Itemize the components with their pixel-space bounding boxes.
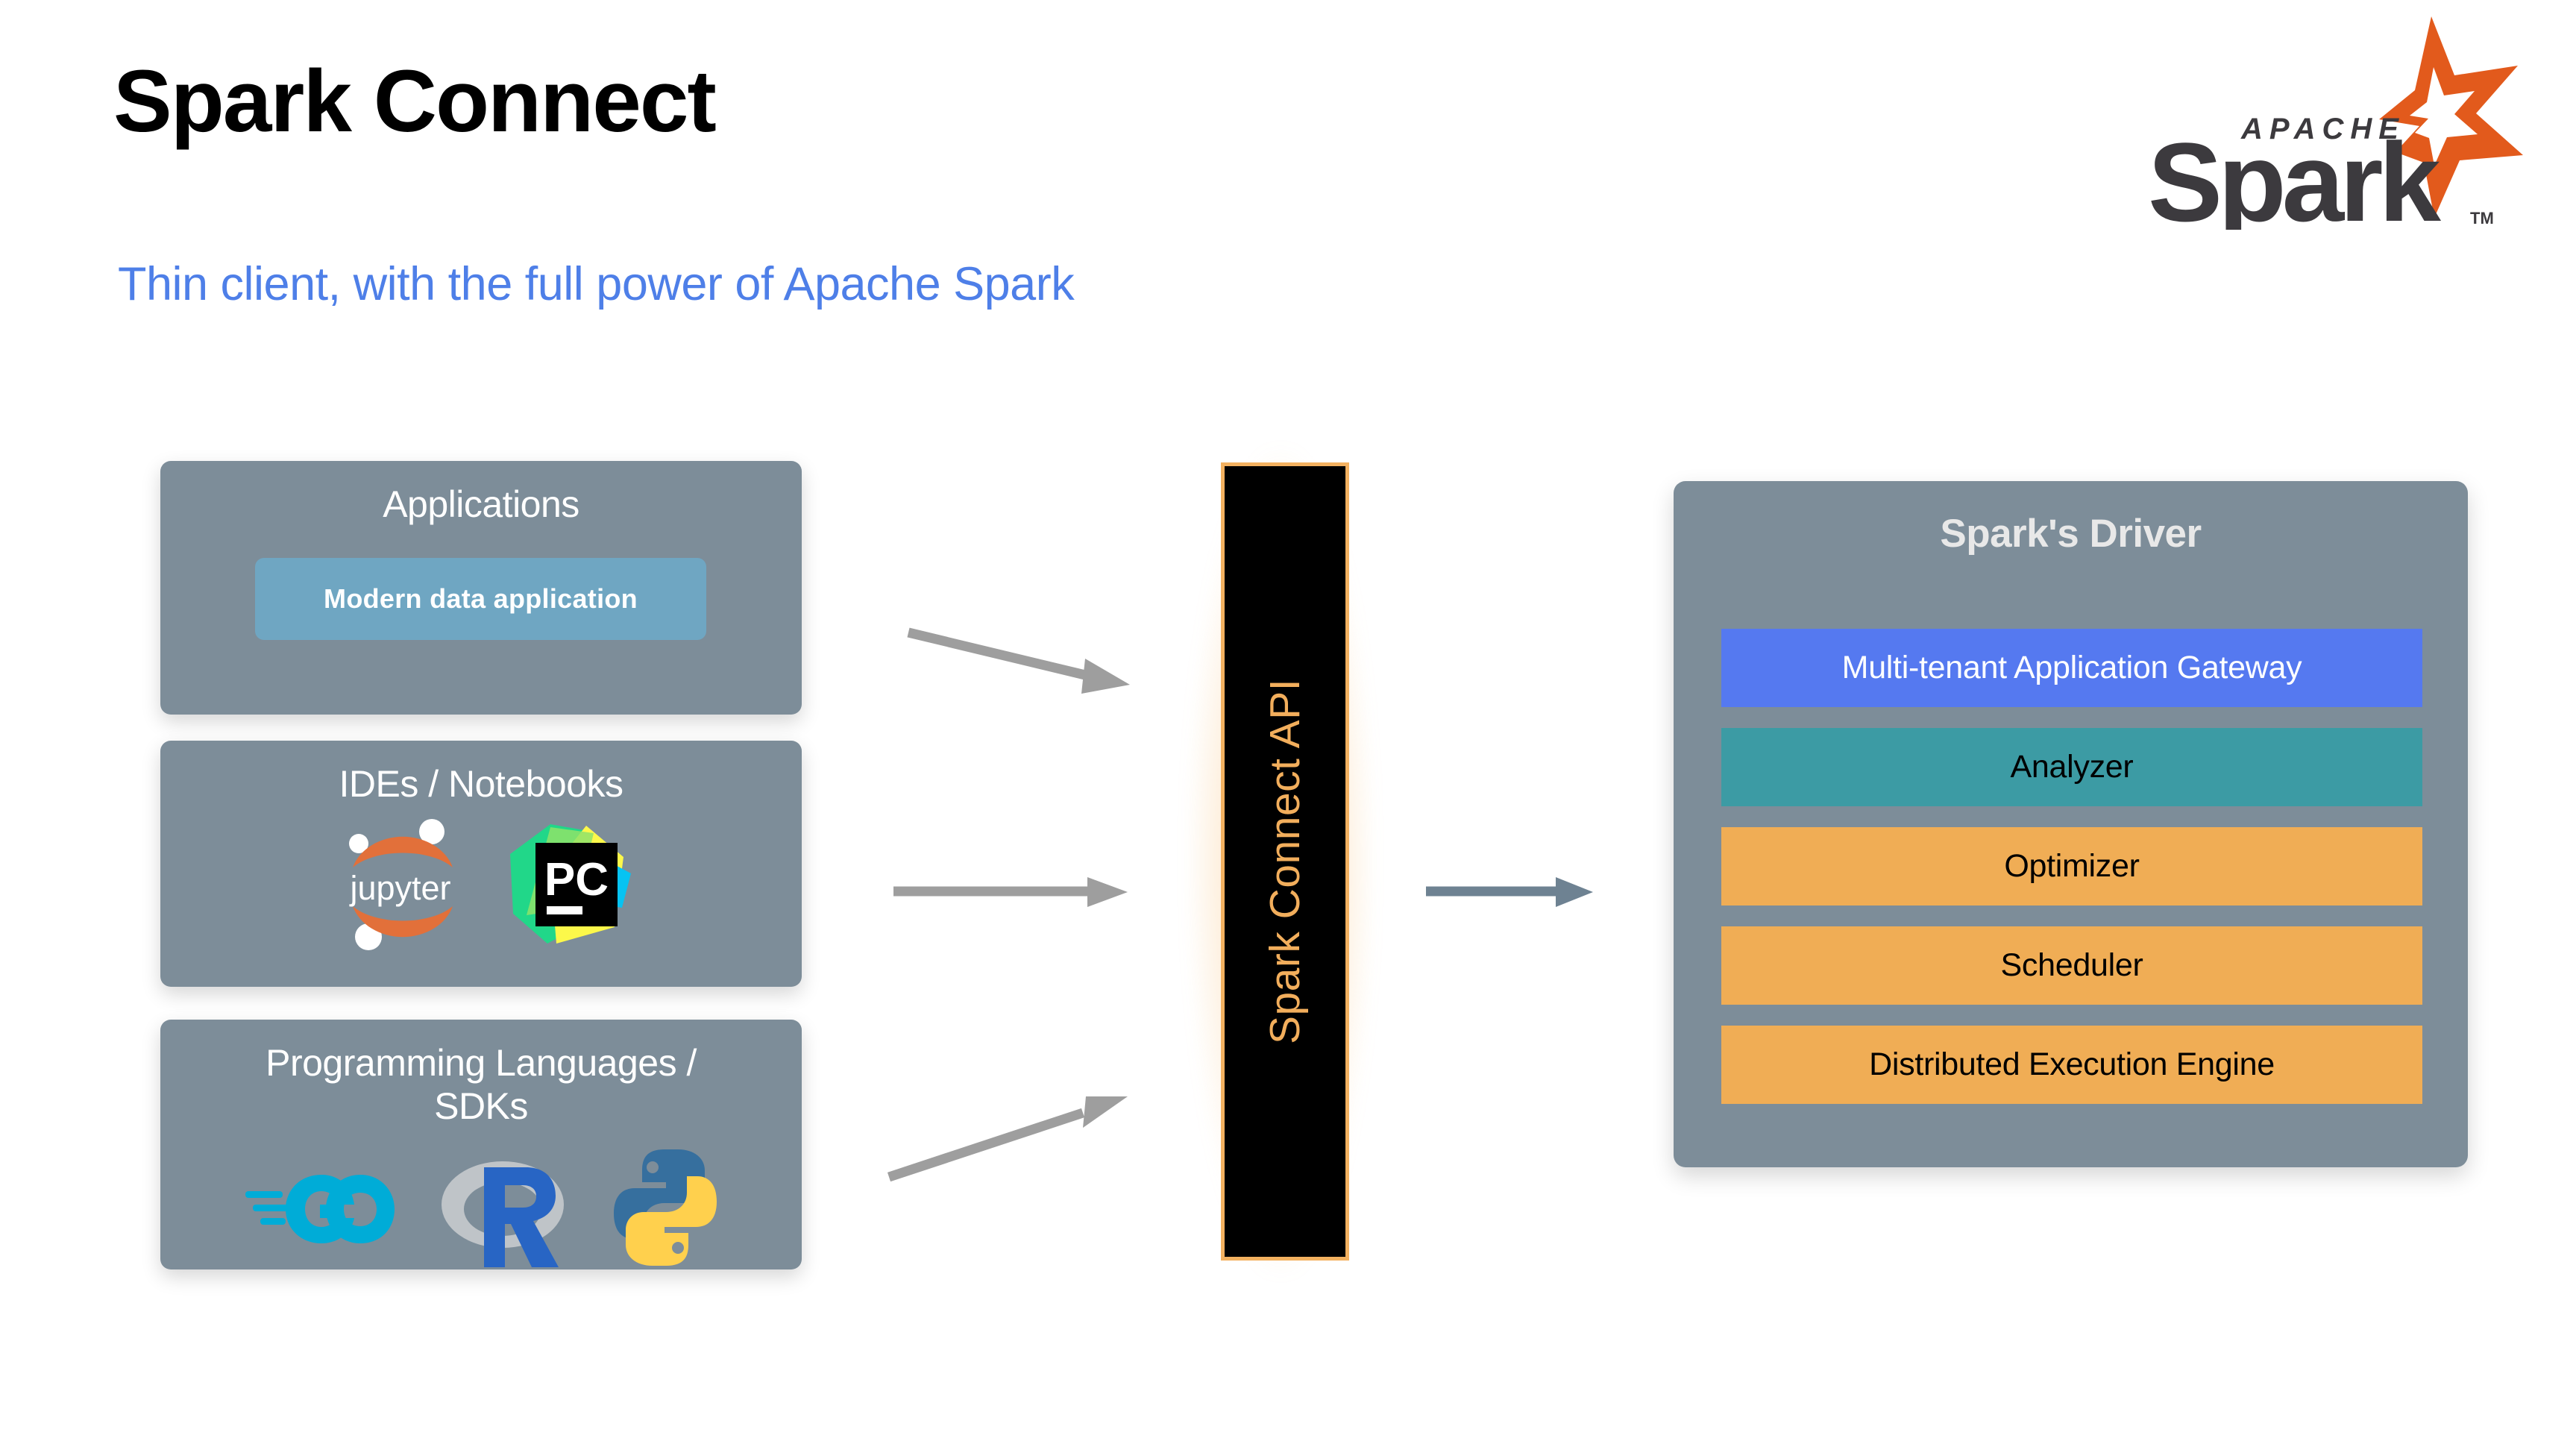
client-box-ides-notebooks[interactable]: IDEs / Notebooks jupyter [160,741,802,987]
driver-layer-distributed-execution-engine[interactable]: Distributed Execution Engine [1721,1026,2422,1104]
client-box-applications[interactable]: Applications Modern data application [160,461,802,715]
driver-layer-analyzer[interactable]: Analyzer [1721,728,2422,806]
logo-trademark-text: TM [2470,209,2494,227]
client-box-title-line1: Programming Languages / [160,1042,802,1085]
pycharm-pc-text: PC [544,854,609,905]
pycharm-logo: PC [504,818,635,955]
client-box-title: Applications [160,461,802,527]
arrow-ides-to-api [893,877,1128,907]
modern-data-application-pill[interactable]: Modern data application [255,558,706,640]
spark-driver-title: Spark's Driver [1674,481,2468,556]
ide-logo-row: jupyter PC [160,815,802,957]
driver-layer-scheduler[interactable]: Scheduler [1721,926,2422,1005]
python-logo [609,1145,721,1274]
client-box-title: IDEs / Notebooks [160,741,802,806]
driver-layer-multi-tenant-application-gateway[interactable]: Multi-tenant Application Gateway [1721,629,2422,707]
spark-driver-panel[interactable]: Spark's Driver Multi-tenant Application … [1674,481,2468,1167]
client-box-programming-languages[interactable]: Programming Languages / SDKs [160,1020,802,1269]
page-title: Spark Connect [113,54,715,151]
jupyter-logo: jupyter [327,815,473,957]
logo-spark-text: Spark [2148,119,2441,230]
slide-canvas: Spark Connect Thin client, with the full… [0,0,2576,1447]
arrow-applications-to-api [908,633,1130,694]
apache-spark-logo: APACHE Spark TM [2133,13,2536,230]
spark-connect-api-label: Spark Connect API [1260,679,1310,1044]
jupyter-wordmark: jupyter [348,869,450,907]
r-language-logo [439,1145,566,1274]
client-box-title: Programming Languages / SDKs [160,1020,802,1128]
client-box-title-line2: SDKs [160,1085,802,1129]
golang-logo [241,1163,396,1256]
arrow-languages-to-api [889,1096,1128,1177]
arrow-api-to-driver [1426,877,1593,907]
driver-layer-optimizer[interactable]: Optimizer [1721,827,2422,905]
spark-connect-api-bar[interactable]: Spark Connect API [1221,462,1349,1261]
page-subtitle: Thin client, with the full power of Apac… [118,257,1074,311]
language-logo-row [160,1145,802,1274]
